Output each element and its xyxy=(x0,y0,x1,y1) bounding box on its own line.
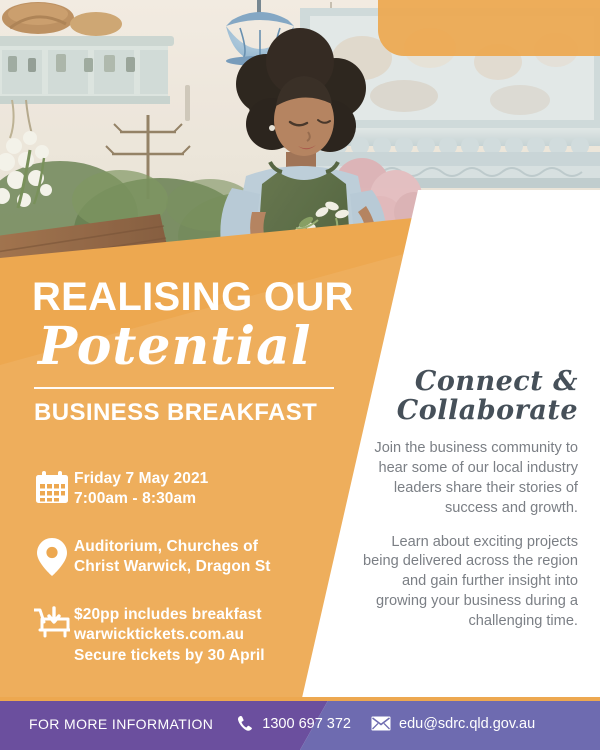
detail-row-date: Friday 7 May 2021 7:00am - 8:30am xyxy=(30,468,360,516)
title-block: REALISING OUR Potential BUSINESS BREAKFA… xyxy=(32,278,362,427)
page-title: REALISING OUR xyxy=(32,278,362,317)
footer-email-address: edu@sdrc.qld.gov.au xyxy=(399,716,535,732)
envelope-icon xyxy=(371,716,399,731)
description-paragraph-1: Join the business community to hear some… xyxy=(360,439,578,518)
detail-line: 7:00am - 8:30am xyxy=(74,489,208,509)
event-poster: REALISING OUR Potential BUSINESS BREAKFA… xyxy=(0,0,600,750)
detail-row-location: Auditorium, Churches of Christ Warwick, … xyxy=(30,536,360,584)
footer-label: FOR MORE INFORMATION xyxy=(29,716,213,732)
detail-text-location: Auditorium, Churches of Christ Warwick, … xyxy=(74,536,271,578)
location-pin-icon xyxy=(30,536,74,584)
phone-icon xyxy=(237,715,262,732)
detail-text-tickets: $20pp includes breakfast warwicktickets.… xyxy=(74,604,265,666)
top-right-orange-block xyxy=(378,0,600,56)
event-subtitle: BUSINESS BREAKFAST xyxy=(34,399,362,427)
title-script: Potential xyxy=(38,321,362,373)
description-paragraph-2: Learn about exciting projects being deli… xyxy=(360,533,578,632)
detail-text-date: Friday 7 May 2021 7:00am - 8:30am xyxy=(74,468,208,510)
heading-line-2: Collaborate xyxy=(360,397,578,426)
calendar-icon xyxy=(30,468,74,516)
footer-phone-number: 1300 697 372 xyxy=(262,716,351,732)
contact-footer: FOR MORE INFORMATION 1300 697 372 xyxy=(0,697,600,750)
detail-line: Secure tickets by 30 April xyxy=(74,646,265,666)
footer-email[interactable]: edu@sdrc.qld.gov.au xyxy=(371,716,535,732)
detail-line: Christ Warwick, Dragon St xyxy=(74,557,271,577)
footer-phone[interactable]: 1300 697 372 xyxy=(237,715,351,732)
detail-line: Friday 7 May 2021 xyxy=(74,469,208,489)
connect-collaborate-heading: Connect & Collaborate xyxy=(360,368,578,425)
detail-line: $20pp includes breakfast xyxy=(74,605,265,625)
detail-row-tickets: $20pp includes breakfast warwicktickets.… xyxy=(30,604,360,666)
detail-line: Auditorium, Churches of xyxy=(74,537,271,557)
title-divider xyxy=(34,387,334,389)
right-info-column: Connect & Collaborate Join the business … xyxy=(360,368,578,632)
event-details-list: Friday 7 May 2021 7:00am - 8:30am Audito… xyxy=(30,468,360,686)
heading-line-1: Connect & xyxy=(360,368,578,397)
ticket-cart-icon xyxy=(30,604,74,652)
detail-line-url[interactable]: warwicktickets.com.au xyxy=(74,625,265,645)
